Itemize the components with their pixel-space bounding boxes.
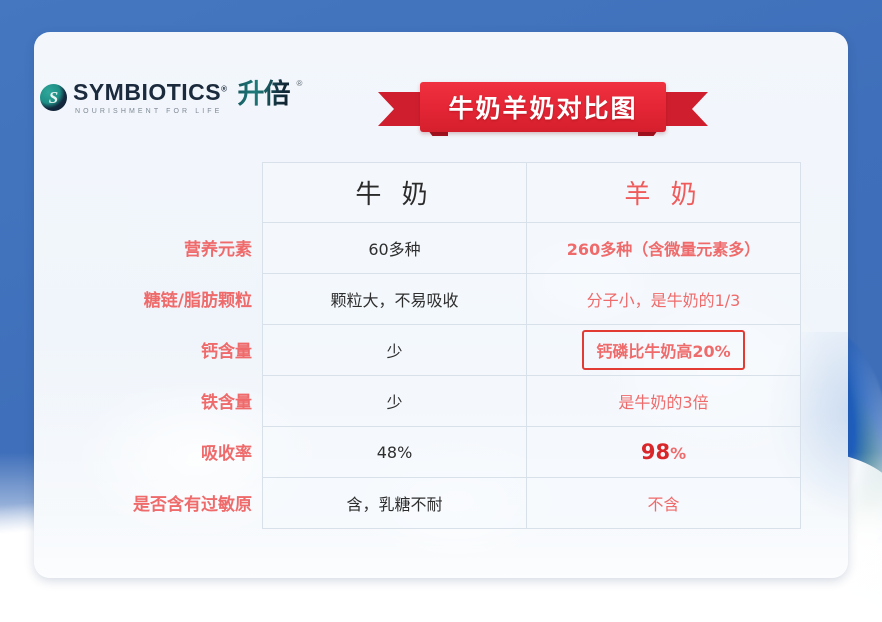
brand-name-text: SYMBIOTICS xyxy=(73,79,221,105)
row-label-column: 营养元素 糖链/脂肪颗粒 钙含量 铁含量 吸收率 是否含有过敏原 xyxy=(48,222,252,528)
cell-goat-absorption: 98% xyxy=(527,427,801,478)
row-label-calcium: 钙含量 xyxy=(48,324,252,375)
brand-tagline: NOURISHMENT FOR LIFE xyxy=(75,108,228,115)
column-header-goat-milk: 羊 奶 xyxy=(527,163,801,223)
table-row: 48% 98% xyxy=(263,427,801,478)
row-label-absorption: 吸收率 xyxy=(48,426,252,477)
cell-goat-nutrients: 260多种（含微量元素多） xyxy=(527,223,801,274)
table-row: 60多种 260多种（含微量元素多） xyxy=(263,223,801,274)
table-header-row: 牛 奶 羊 奶 xyxy=(263,163,801,223)
cell-milk-fat-particles: 颗粒大，不易吸收 xyxy=(263,274,527,325)
cell-goat-allergens: 不含 xyxy=(527,478,801,529)
cell-milk-absorption: 48% xyxy=(263,427,527,478)
brand-name: SYMBIOTICS® xyxy=(73,81,228,104)
absorption-unit: % xyxy=(670,444,686,463)
cell-milk-allergens: 含，乳糖不耐 xyxy=(263,478,527,529)
table-row: 颗粒大，不易吸收 分子小，是牛奶的1/3 xyxy=(263,274,801,325)
brand-logo: SYMBIOTICS® NOURISHMENT FOR LIFE 升倍 ® xyxy=(40,78,301,117)
cell-milk-calcium: 少 xyxy=(263,325,527,376)
cell-goat-iron: 是牛奶的3倍 xyxy=(527,376,801,427)
cell-goat-calcium: 钙磷比牛奶高20% xyxy=(527,325,801,376)
brand-registered-mark: ® xyxy=(221,84,227,93)
cell-milk-iron: 少 xyxy=(263,376,527,427)
ribbon-body: 牛奶羊奶对比图 xyxy=(420,82,666,132)
calcium-highlight-box: 钙磷比牛奶高20% xyxy=(582,330,744,370)
brand-registered-mark-chinese: ® xyxy=(297,79,303,88)
brand-name-chinese: 升倍 xyxy=(238,72,290,111)
table-row: 含，乳糖不耐 不含 xyxy=(263,478,801,529)
page-title: 牛奶羊奶对比图 xyxy=(448,89,637,125)
cell-goat-fat-particles: 分子小，是牛奶的1/3 xyxy=(527,274,801,325)
row-label-allergens: 是否含有过敏原 xyxy=(48,477,252,528)
symbiotics-s-icon xyxy=(40,84,67,111)
table-row: 少 是牛奶的3倍 xyxy=(263,376,801,427)
table-row: 少 钙磷比牛奶高20% xyxy=(263,325,801,376)
cell-milk-nutrients: 60多种 xyxy=(263,223,527,274)
comparison-table: 牛 奶 羊 奶 60多种 260多种（含微量元素多） 颗粒大，不易吸收 分子小，… xyxy=(262,162,801,529)
absorption-value: 98 xyxy=(641,440,670,464)
row-label-iron: 铁含量 xyxy=(48,375,252,426)
row-label-fat-particles: 糖链/脂肪颗粒 xyxy=(48,273,252,324)
column-header-milk: 牛 奶 xyxy=(263,163,527,223)
title-ribbon: 牛奶羊奶对比图 xyxy=(378,82,708,136)
row-label-nutrients: 营养元素 xyxy=(48,222,252,273)
brand-wordmark: SYMBIOTICS® NOURISHMENT FOR LIFE xyxy=(73,81,228,115)
